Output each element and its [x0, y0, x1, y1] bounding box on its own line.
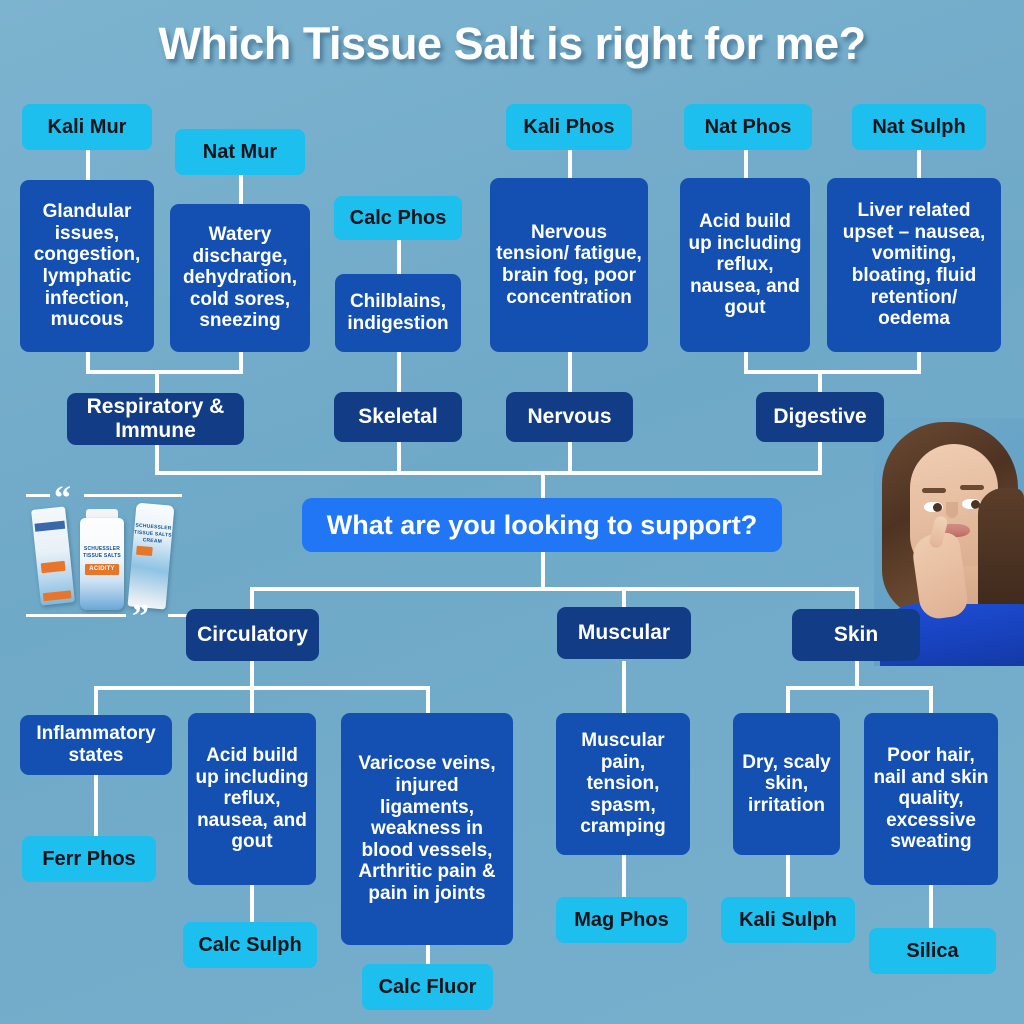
symptom-kali-phos[interactable]: Nervous tension/ fatigue, brain fog, poo…: [490, 178, 648, 352]
connector-circulatory-down: [250, 661, 254, 689]
connector-ferrphos-stem: [94, 686, 98, 717]
symptom-kali-mur[interactable]: Glandular issues, congestion, lymphatic …: [20, 180, 154, 352]
symptom-nat-phos[interactable]: Acid build up including reflux, nausea, …: [680, 178, 810, 352]
left-eyebrow: [922, 488, 946, 493]
left-eye: [924, 502, 943, 512]
connector-respiratory-stem: [155, 370, 159, 394]
connector-digestive-stem: [818, 370, 822, 394]
right-eyebrow: [960, 485, 984, 490]
salt-calc-fluor[interactable]: Calc Fluor: [362, 964, 493, 1010]
connector-kali-mur: [86, 148, 90, 184]
salt-kali-mur[interactable]: Kali Mur: [22, 104, 152, 150]
salt-silica[interactable]: Silica: [869, 928, 996, 974]
close-quote-icon: ”: [132, 600, 149, 634]
connector-skin-down: [855, 661, 859, 689]
salt-calc-sulph[interactable]: Calc Sulph: [183, 922, 317, 968]
connector-circulatory-bracket: [94, 686, 429, 690]
quote-rule-left: [26, 494, 50, 497]
product-carton: [31, 506, 75, 605]
product-photo: “ SCHUESSLER TISSUE SALTS ACIDITY SCHUES…: [22, 478, 194, 630]
infographic-canvas: Which Tissue Salt is right for me?: [0, 0, 1024, 1024]
connector-natsulph-down: [917, 350, 921, 372]
quote-rule-top-right: [84, 494, 182, 497]
symptom-ferr-phos[interactable]: Inflammatory states: [20, 715, 172, 775]
category-skin[interactable]: Skin: [792, 609, 920, 661]
connector-poorhair-to-silica: [929, 882, 933, 929]
bottle-brand-text: SCHUESSLER: [80, 546, 124, 552]
page-title: Which Tissue Salt is right for me?: [0, 18, 1024, 70]
category-circulatory[interactable]: Circulatory: [186, 609, 319, 661]
category-respiratory-immune[interactable]: Respiratory & Immune: [67, 393, 244, 445]
question-box[interactable]: What are you looking to support?: [302, 498, 782, 552]
connector-muscular-down: [622, 661, 626, 717]
carton-orange-footer: [43, 590, 72, 601]
bottle-variant-text: ACIDITY: [80, 566, 124, 572]
connector-digestive-to-bus: [818, 440, 822, 474]
symptom-mag-phos[interactable]: Muscular pain, tension, spasm, cramping: [556, 713, 690, 855]
category-digestive[interactable]: Digestive: [756, 392, 884, 442]
connector-lower-bus: [250, 587, 857, 591]
connector-skeletal-to-bus: [397, 440, 401, 474]
quote-rule-bottom-left: [26, 614, 126, 617]
connector-skin-bracket: [786, 686, 933, 690]
left-pupil: [933, 503, 942, 512]
connector-acid-to-calcsulph: [250, 882, 254, 923]
connector-digestive-bracket: [744, 370, 921, 374]
salt-kali-phos[interactable]: Kali Phos: [506, 104, 632, 150]
connector-nervous-to-bus: [568, 440, 572, 474]
connector-circulatory-stem: [250, 587, 254, 610]
category-skeletal[interactable]: Skeletal: [334, 392, 462, 442]
connector-respiratory-bracket: [86, 370, 243, 374]
nose-shape: [946, 502, 958, 518]
symptom-nat-sulph[interactable]: Liver related upset – nausea, vomiting, …: [827, 178, 1001, 352]
salt-nat-phos[interactable]: Nat Phos: [684, 104, 812, 150]
connector-respiratory-to-bus: [155, 444, 159, 474]
salt-nat-sulph[interactable]: Nat Sulph: [852, 104, 986, 150]
symptom-silica[interactable]: Poor hair, nail and skin quality, excess…: [864, 713, 998, 885]
product-tube: SCHUESSLER TISSUE SALTS CREAM: [128, 503, 175, 610]
symptom-kali-sulph[interactable]: Dry, scaly skin, irritation: [733, 713, 840, 855]
connector-skin-stem: [855, 587, 859, 610]
connector-muscular-to-magphos: [622, 853, 626, 897]
connector-bus-to-question: [541, 471, 545, 500]
carton-band: [35, 521, 66, 532]
connector-question-down: [541, 550, 545, 589]
symptom-calc-fluor[interactable]: Varicose veins, injured ligaments, weakn…: [341, 713, 513, 945]
salt-mag-phos[interactable]: Mag Phos: [556, 897, 687, 943]
connector-nervous-stem: [568, 350, 572, 394]
bottle-line-text: TISSUE SALTS: [80, 553, 124, 559]
product-bottle: SCHUESSLER TISSUE SALTS ACIDITY: [80, 518, 124, 610]
connector-upper-bus: [155, 471, 822, 475]
connector-kalimur-down: [86, 350, 90, 372]
salt-ferr-phos[interactable]: Ferr Phos: [22, 836, 156, 882]
symptom-calc-sulph[interactable]: Acid build up including reflux, nausea, …: [188, 713, 316, 885]
salt-calc-phos[interactable]: Calc Phos: [334, 196, 462, 240]
connector-natphos-down: [744, 350, 748, 372]
symptom-nat-mur[interactable]: Watery discharge, dehydration, cold sore…: [170, 204, 310, 352]
connector-inflammatory-to-ferrphos: [94, 773, 98, 837]
carton-orange-label: [41, 561, 66, 573]
salt-kali-sulph[interactable]: Kali Sulph: [721, 897, 855, 943]
salt-nat-mur[interactable]: Nat Mur: [175, 129, 305, 175]
connector-skeletal-stem: [397, 350, 401, 394]
symptom-calc-phos[interactable]: Chilblains, indigestion: [335, 274, 461, 352]
tube-orange-label: [136, 546, 153, 556]
connector-natmur-down: [239, 350, 243, 372]
category-muscular[interactable]: Muscular: [557, 607, 691, 659]
category-nervous[interactable]: Nervous: [506, 392, 633, 442]
connector-dry-to-kalisulph: [786, 853, 790, 897]
connector-varicose-to-calcfluor: [426, 944, 430, 966]
